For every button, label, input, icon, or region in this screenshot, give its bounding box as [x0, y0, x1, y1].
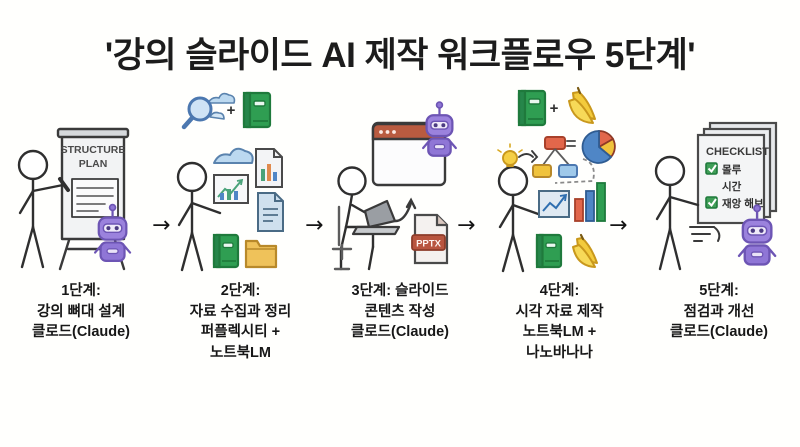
checklist-item-2: 시간 [722, 180, 742, 193]
line-chart-card [214, 175, 248, 203]
step-2-illustration: + [170, 87, 312, 277]
step-5-illustration: CHECKLIST 몰루 시간 재앙 해보 [648, 87, 790, 277]
step-1-caption: 1단계: 강의 뼈대 설계 클로드(Claude) [0, 281, 164, 343]
line-chart-icon [539, 191, 569, 217]
lightbulb-icon [498, 144, 522, 166]
checkbox-checked-1 [706, 163, 717, 174]
arrow-step1-to-step2: → [152, 215, 170, 237]
banana-icon [569, 88, 595, 123]
step-3-illustration: PPTX [329, 87, 471, 277]
folder-icon [246, 241, 276, 267]
checklist-item-1: 몰루 [722, 164, 742, 176]
bar-chart-icon [575, 183, 605, 221]
step-5-caption: 5단계: 점검과 개선 클로드(Claude) [637, 281, 800, 343]
person-pointing [656, 157, 698, 269]
banana-icon [573, 235, 597, 267]
speech-lines [690, 227, 719, 241]
pptx-file-icon: PPTX [412, 215, 447, 263]
claude-robot-icon [423, 102, 456, 156]
pptx-badge-label: PPTX [416, 238, 441, 249]
node-diagram-icon [533, 137, 577, 177]
board-title-line1: STRUCTURE [61, 144, 126, 156]
green-book-icon [214, 235, 238, 267]
step-1: STRUCTURE PLAN [10, 87, 152, 343]
step-3: PPTX 3단계: 슬라이드 콘텐츠 작성 클로드(Claude) [329, 87, 471, 343]
plus-sign: + [226, 102, 235, 119]
step-1-illustration: STRUCTURE PLAN [10, 87, 152, 277]
pie-chart-icon [582, 131, 614, 163]
step-4-illustration: + [489, 87, 631, 277]
text-doc-icon [258, 193, 283, 231]
step-3-caption: 3단계: 슬라이드 콘텐츠 작성 클로드(Claude) [318, 281, 483, 343]
step-2: + [170, 87, 312, 363]
checklist-title: CHECKLIST [706, 146, 769, 158]
green-book-icon [537, 235, 561, 267]
cloud-icon [214, 149, 253, 163]
step-4-caption: 4단계: 시각 자료 제작 노트북LM + 나노바나나 [477, 281, 642, 363]
step-5: CHECKLIST 몰루 시간 재앙 해보 [648, 87, 790, 343]
plus-sign: + [549, 100, 558, 117]
step-4: + [489, 87, 631, 363]
workflow-steps: → → → → [0, 87, 800, 447]
laptop-icon [353, 201, 399, 234]
green-book-icon [244, 93, 270, 127]
bar-chart-doc-icon [256, 149, 282, 187]
checkbox-checked-3 [706, 197, 717, 208]
page-title: '강의 슬라이드 AI 제작 워크플로우 5단계' [0, 38, 800, 73]
infographic-canvas: '강의 슬라이드 AI 제작 워크플로우 5단계' → → → → [0, 0, 800, 447]
board-title-line2: PLAN [79, 158, 108, 170]
step-2-caption: 2단계: 자료 수집과 정리 퍼플렉시티 + 노트북LM [158, 281, 323, 363]
green-book-icon [519, 91, 545, 125]
